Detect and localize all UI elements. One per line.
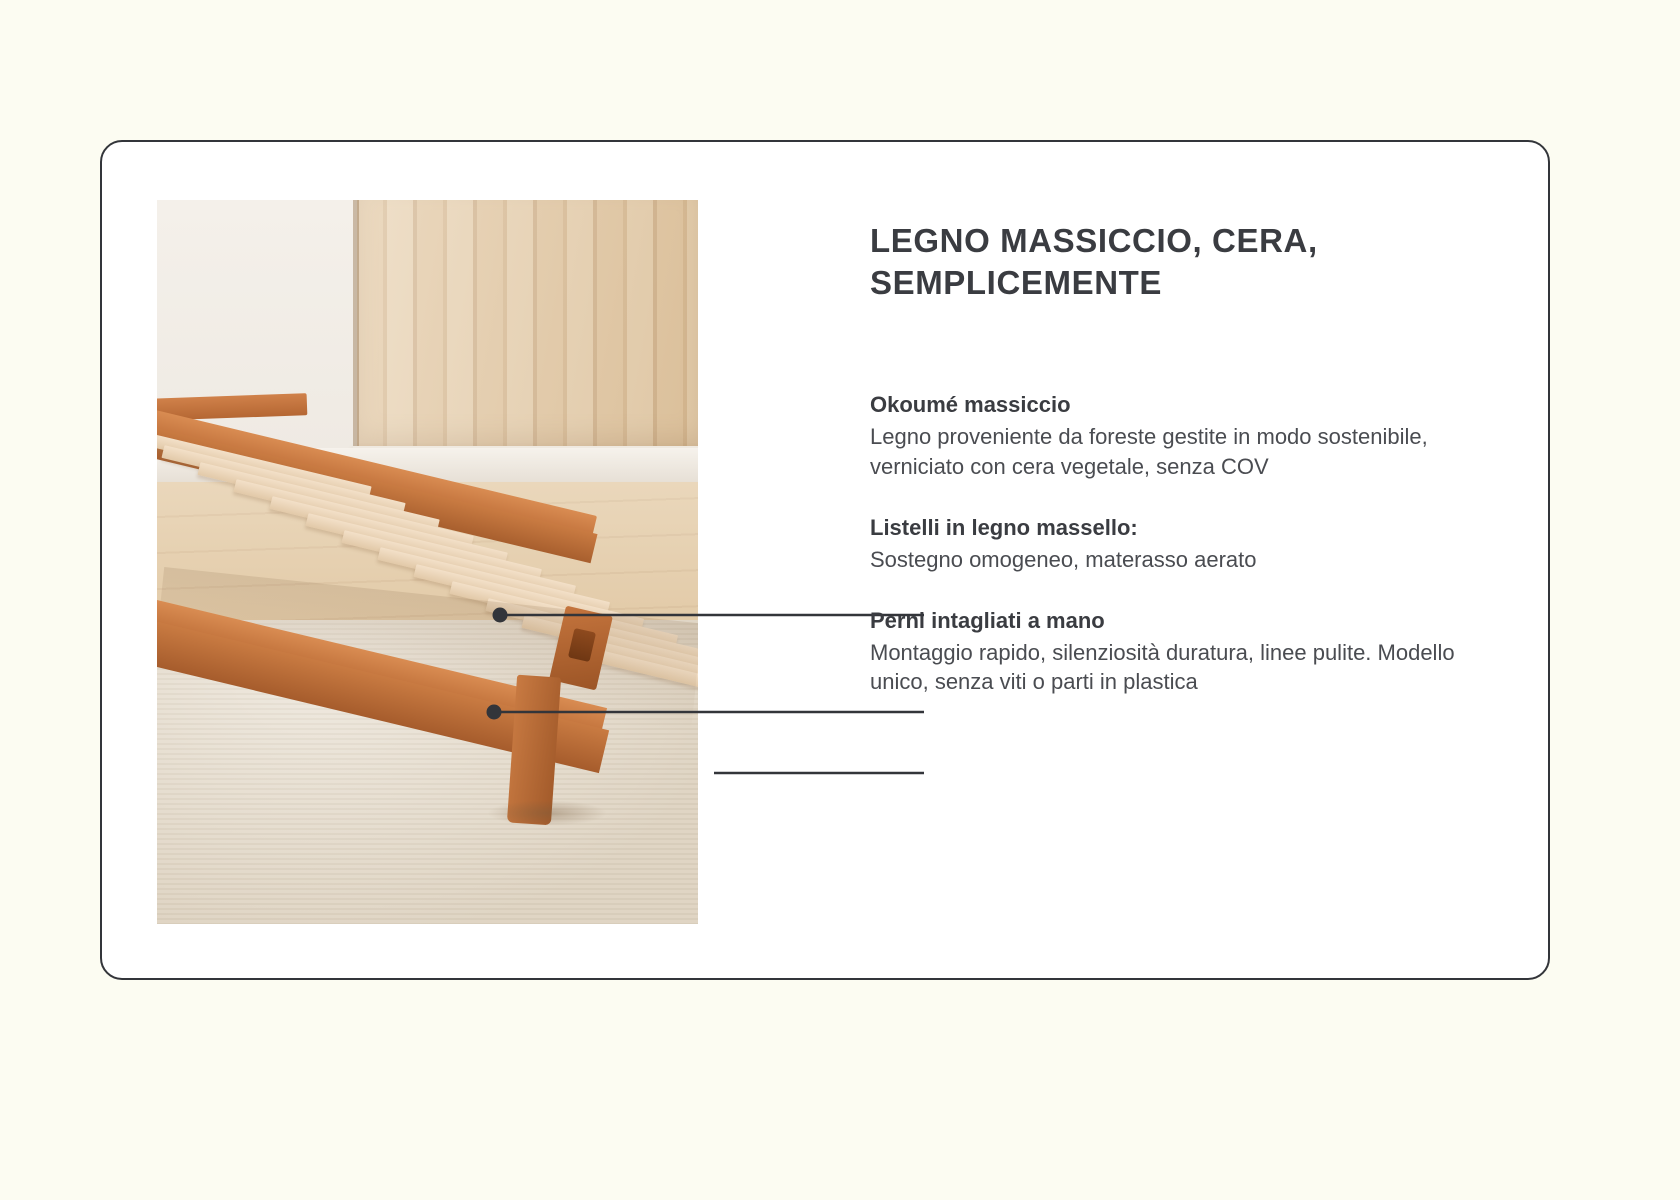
feature-card: LEGNO MASSICCIO, CERA, SEMPLICEMENTE Oko… [100,140,1550,980]
feature-body-okoume: Legno proveniente da foreste gestite in … [870,422,1470,481]
feature-block-listelli: Listelli in legno massello: Sostegno omo… [870,513,1470,574]
page-root: LEGNO MASSICCIO, CERA, SEMPLICEMENTE Oko… [0,0,1680,1200]
feature-heading-listelli: Listelli in legno massello: [870,513,1470,543]
feature-heading-okoume: Okoumé massiccio [870,390,1470,420]
product-photo [157,200,698,924]
page-title: LEGNO MASSICCIO, CERA, SEMPLICEMENTE [870,220,1470,304]
feature-block-perni: Perni intagliati a mano Montaggio rapido… [870,606,1470,697]
feature-body-perni: Montaggio rapido, silenziosità duratura,… [870,638,1470,697]
photo-door-frame [353,200,359,450]
feature-heading-perni: Perni intagliati a mano [870,606,1470,636]
feature-body-listelli: Sostegno omogeneo, materasso aerato [870,545,1470,574]
feature-block-okoume: Okoumé massiccio Legno proveniente da fo… [870,390,1470,481]
text-column: LEGNO MASSICCIO, CERA, SEMPLICEMENTE Oko… [870,220,1470,697]
photo-door-shading [357,200,698,448]
bed-leg-shadow [487,800,607,826]
